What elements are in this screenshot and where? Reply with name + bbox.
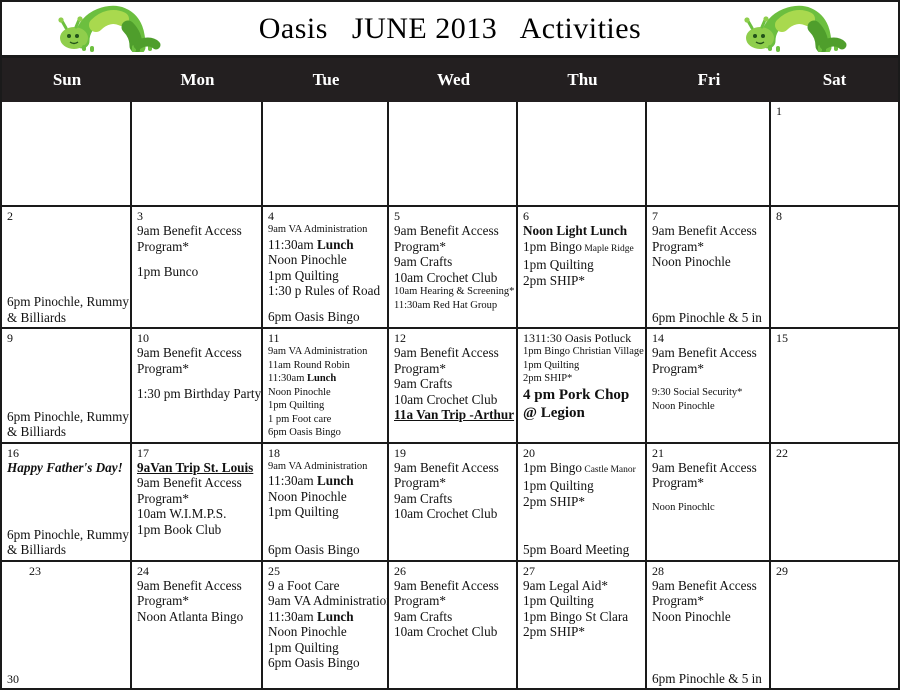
day-cell-15[interactable]: 15	[771, 329, 898, 442]
event-item[interactable]: 10am Crochet Club	[394, 624, 513, 640]
day-inline-note: 11:30 Oasis Potluck	[535, 331, 631, 345]
event-item[interactable]: Program*	[394, 361, 513, 377]
event-spacer	[137, 376, 258, 386]
caterpillar-icon-right	[738, 5, 850, 52]
event-item[interactable]: 1pm Quilting	[268, 504, 384, 520]
event-item[interactable]: 9:30 Social Security*	[652, 386, 766, 400]
event-spacer	[652, 491, 766, 501]
day-number: 20	[523, 446, 642, 460]
event-item[interactable]: 1pm Quilting	[268, 268, 384, 284]
event-spacer	[652, 376, 766, 386]
weekday-tue: Tue	[263, 70, 389, 90]
event-item[interactable]: 11:30am Lunch	[268, 237, 384, 253]
day-cell-empty[interactable]	[132, 102, 263, 205]
event-item[interactable]: 9aVan Trip St. Louis	[137, 460, 258, 476]
event-item[interactable]: Noon Pinochle	[268, 489, 384, 505]
day-cell-17[interactable]: 179aVan Trip St. Louis9am Benefit Access…	[132, 444, 263, 560]
day-number: 21	[652, 446, 766, 460]
event-item[interactable]: 9am VA Administration	[268, 345, 384, 359]
event-item[interactable]: 11:30am Lunch	[268, 609, 384, 625]
event-item[interactable]: 11a Van Trip -Arthur	[394, 407, 513, 423]
weekday-fri: Fri	[647, 70, 771, 90]
day-number: 18	[268, 446, 384, 460]
day-number: 14	[652, 331, 766, 345]
day-cell-28[interactable]: 289am Benefit AccessProgram*Noon Pinochl…	[647, 562, 771, 689]
day-cell-empty[interactable]	[647, 102, 771, 205]
event-item[interactable]: 5pm Board Meeting	[523, 542, 642, 558]
event-item[interactable]: 9am Benefit Access	[652, 345, 766, 361]
day-cell-11[interactable]: 119am VA Administration11am Round Robin1…	[263, 329, 389, 442]
event-item[interactable]: Program*	[394, 593, 513, 609]
event-item[interactable]: & Billiards	[7, 542, 127, 558]
event-item[interactable]: 9am Benefit Access	[652, 460, 766, 476]
calendar-title-bar: Oasis JUNE 2013 Activities	[2, 2, 898, 58]
day-cell-23[interactable]: 2330	[2, 562, 132, 689]
weekday-sat: Sat	[771, 70, 898, 90]
event-item[interactable]: 1pm Book Club	[137, 522, 258, 538]
calendar-week-row: 26pm Pinochle, Rummy& Billiards39am Bene…	[2, 207, 898, 329]
event-item[interactable]: 1pm Quilting	[268, 399, 384, 413]
calendar-week-row: 16Happy Father's Day!6pm Pinochle, Rummy…	[2, 444, 898, 562]
event-item[interactable]: 1pm Bingo Castle Manor	[523, 460, 642, 479]
event-item[interactable]: 9am Crafts	[394, 254, 513, 270]
event-item[interactable]: 2pm SHIP*	[523, 273, 642, 289]
event-item[interactable]: 9am Crafts	[394, 609, 513, 625]
day-number: 22	[776, 446, 895, 460]
event-item[interactable]: 9am VA Administration	[268, 223, 384, 237]
event-spacer	[268, 299, 384, 309]
day-number: 17	[137, 446, 258, 460]
event-item[interactable]: 9am VA Administration	[268, 593, 384, 609]
event-item[interactable]: 9am Legal Aid*	[523, 578, 642, 594]
day-cell-3[interactable]: 39am Benefit AccessProgram*1pm Bunco	[132, 207, 263, 327]
event-item[interactable]: Program*	[394, 475, 513, 491]
event-item[interactable]: Program*	[652, 239, 766, 255]
day-cell-2[interactable]: 26pm Pinochle, Rummy& Billiards	[2, 207, 132, 327]
event-item[interactable]: Happy Father's Day!	[7, 460, 127, 476]
day-cell-25[interactable]: 259 a Foot Care9am VA Administration11:3…	[263, 562, 389, 689]
day-cell-1[interactable]: 1	[771, 102, 898, 205]
event-location: Castle Manor	[582, 465, 636, 475]
day-cell-29[interactable]: 29	[771, 562, 898, 689]
event-item[interactable]: 1:30 p Rules of Road	[268, 283, 384, 299]
day-cell-5[interactable]: 59am Benefit AccessProgram*9am Crafts10a…	[389, 207, 518, 327]
day-cell-26[interactable]: 269am Benefit AccessProgram*9am Crafts10…	[389, 562, 518, 689]
day-cell-empty[interactable]	[389, 102, 518, 205]
event-item[interactable]: 6pm Pinochle, Rummy	[7, 527, 127, 543]
event-item[interactable]: 9am Benefit Access	[137, 578, 258, 594]
day-cell-16[interactable]: 16Happy Father's Day!6pm Pinochle, Rummy…	[2, 444, 132, 560]
event-item[interactable]: Program*	[137, 491, 258, 507]
day-number: 8	[776, 209, 895, 223]
event-item[interactable]: 10am Crochet Club	[394, 270, 513, 286]
day-cell-12[interactable]: 129am Benefit AccessProgram*9am Crafts10…	[389, 329, 518, 442]
event-item[interactable]: 1pm Quilting	[523, 257, 642, 273]
weekday-sun: Sun	[2, 70, 132, 90]
event-item[interactable]: 1pm Quilting	[523, 478, 642, 494]
day-number: 6	[523, 209, 642, 223]
event-item[interactable]: 9am Benefit Access	[137, 475, 258, 491]
calendar-grid: 126pm Pinochle, Rummy& Billiards39am Ben…	[2, 102, 898, 688]
day-number: 2	[7, 209, 127, 223]
day-number: 29	[776, 564, 895, 578]
day-number: 10	[137, 331, 258, 345]
day-cell-4[interactable]: 49am VA Administration11:30am LunchNoon …	[263, 207, 389, 327]
page-title: Oasis JUNE 2013 Activities	[259, 12, 642, 46]
day-number: 9	[7, 331, 127, 345]
event-item[interactable]: 6pm Oasis Bingo	[268, 655, 384, 671]
event-item[interactable]: Noon Pinochle	[652, 254, 766, 270]
event-item[interactable]: 9am Benefit Access	[652, 578, 766, 594]
day-cell-10[interactable]: 109am Benefit AccessProgram*1:30 pm Birt…	[132, 329, 263, 442]
calendar-week-row: 2330249am Benefit AccessProgram*Noon Atl…	[2, 562, 898, 689]
event-item[interactable]: 1 pm Foot care	[268, 413, 384, 427]
event-item[interactable]: 6pm Pinochle, Rummy	[7, 409, 127, 425]
calendar-week-row: 96pm Pinochle, Rummy& Billiards109am Ben…	[2, 329, 898, 444]
event-item[interactable]: 10am W.I.M.P.S.	[137, 506, 258, 522]
event-item[interactable]: 9am Benefit Access	[137, 345, 258, 361]
event-item[interactable]: 2pm SHIP*	[523, 624, 642, 640]
event-item[interactable]: Noon Pinochle	[652, 609, 766, 625]
day-number: 28	[652, 564, 766, 578]
day-number: 16	[7, 446, 127, 460]
event-item[interactable]: 1pm Bingo St Clara	[523, 609, 642, 625]
day-cell-14[interactable]: 149am Benefit AccessProgram*9:30 Social …	[647, 329, 771, 442]
day-cell-21[interactable]: 219am Benefit AccessProgram*Noon Pinochl…	[647, 444, 771, 560]
event-item[interactable]: Program*	[652, 475, 766, 491]
day-number: 15	[776, 331, 895, 345]
day-number: 11	[268, 331, 384, 345]
event-item[interactable]: Noon Pinochle	[268, 624, 384, 640]
event-item[interactable]: 9am Benefit Access	[394, 460, 513, 476]
event-item[interactable]: 2pm SHIP*	[523, 372, 642, 386]
event-item[interactable]: Noon Light Lunch	[523, 223, 642, 239]
event-item[interactable]: Program*	[137, 593, 258, 609]
event-item[interactable]: 11:30am Lunch	[268, 473, 384, 489]
event-item[interactable]: 4 pm Pork Chop @ Legion	[523, 386, 642, 422]
event-item[interactable]: 10am Crochet Club	[394, 392, 513, 408]
event-item[interactable]: 9am Benefit Access	[394, 578, 513, 594]
event-item[interactable]: 1:30 pm Birthday Party	[137, 386, 258, 402]
weekday-wed: Wed	[389, 70, 518, 90]
day-cell-empty[interactable]	[2, 102, 132, 205]
day-number: 3	[137, 209, 258, 223]
day-number-secondary: 30	[7, 672, 127, 686]
event-item[interactable]: 9 a Foot Care	[268, 578, 384, 594]
day-cell-7[interactable]: 79am Benefit AccessProgram*Noon Pinochle…	[647, 207, 771, 327]
event-item[interactable]: Noon Pinochle	[652, 400, 766, 414]
event-item[interactable]: 9am Benefit Access	[652, 223, 766, 239]
weekday-mon: Mon	[132, 70, 263, 90]
day-cell-empty[interactable]	[263, 102, 389, 205]
day-number: 23	[7, 564, 127, 578]
event-spacer	[7, 223, 127, 233]
day-cell-6[interactable]: 6Noon Light Lunch1pm Bingo Maple Ridge1p…	[518, 207, 647, 327]
event-item[interactable]: 2pm SHIP*	[523, 494, 642, 510]
event-item[interactable]: Program*	[137, 239, 258, 255]
day-cell-empty[interactable]	[518, 102, 647, 205]
event-item[interactable]: Noon Pinochle	[268, 386, 384, 400]
event-item[interactable]: 11:30am Lunch	[268, 372, 384, 386]
day-number: 25	[268, 564, 384, 578]
event-item[interactable]: 11:30am Red Hat Group	[394, 299, 513, 313]
event-item[interactable]: 6pm Oasis Bingo	[268, 309, 384, 325]
event-item[interactable]: 9am Benefit Access	[394, 345, 513, 361]
event-item[interactable]: 9am Crafts	[394, 376, 513, 392]
day-cell-20[interactable]: 201pm Bingo Castle Manor1pm Quilting2pm …	[518, 444, 647, 560]
day-number: 5	[394, 209, 513, 223]
event-location: Maple Ridge	[582, 244, 634, 254]
day-cell-9[interactable]: 96pm Pinochle, Rummy& Billiards	[2, 329, 132, 442]
day-cell-13[interactable]: 1311:30 Oasis Potluck1pm Bingo Christian…	[518, 329, 647, 442]
event-item[interactable]: 6pm Oasis Bingo	[268, 426, 384, 440]
event-item[interactable]: & Billiards	[7, 310, 127, 326]
day-cell-27[interactable]: 279am Legal Aid*1pm Quilting1pm Bingo St…	[518, 562, 647, 689]
day-number: 1	[776, 104, 895, 118]
event-item[interactable]: & Billiards	[7, 424, 127, 440]
event-item[interactable]: 6pm Pinochle & 5 in	[652, 310, 766, 326]
day-cell-22[interactable]: 22	[771, 444, 898, 560]
day-cell-24[interactable]: 249am Benefit AccessProgram*Noon Atlanta…	[132, 562, 263, 689]
day-cell-18[interactable]: 189am VA Administration11:30am LunchNoon…	[263, 444, 389, 560]
day-number: 19	[394, 446, 513, 460]
day-number: 26	[394, 564, 513, 578]
day-cell-8[interactable]: 8	[771, 207, 898, 327]
event-item[interactable]: 1pm Quilting	[268, 640, 384, 656]
event-item[interactable]: 11am Round Robin	[268, 359, 384, 373]
calendar-week-row: 1	[2, 102, 898, 207]
event-item[interactable]: Program*	[652, 593, 766, 609]
event-item[interactable]: 6pm Pinochle & 5 in	[652, 671, 766, 687]
event-item[interactable]: Program*	[652, 361, 766, 377]
event-item[interactable]: Program*	[137, 361, 258, 377]
day-number: 4	[268, 209, 384, 223]
calendar-page: Oasis JUNE 2013 Activities	[0, 0, 900, 690]
event-item[interactable]: 1pm Quilting	[523, 359, 642, 373]
weekday-thu: Thu	[518, 70, 647, 90]
weekday-header-row: Sun Mon Tue Wed Thu Fri Sat	[2, 58, 898, 102]
event-item[interactable]: 10am Hearing & Screening*	[394, 285, 513, 299]
event-item[interactable]: 1pm Bingo Maple Ridge	[523, 239, 642, 258]
event-item[interactable]: 9am Crafts	[394, 491, 513, 507]
day-number: 12	[394, 331, 513, 345]
day-cell-19[interactable]: 19 9am Benefit AccessProgram*9am Crafts1…	[389, 444, 518, 560]
day-number: 27	[523, 564, 642, 578]
event-item[interactable]: 1pm Quilting	[523, 593, 642, 609]
day-number: 24	[137, 564, 258, 578]
event-item[interactable]: 6pm Pinochle, Rummy	[7, 294, 127, 310]
event-item[interactable]: 6pm Oasis Bingo	[268, 542, 384, 558]
event-item[interactable]: Program*	[394, 239, 513, 255]
event-item[interactable]: 9am Benefit Access	[137, 223, 258, 239]
event-item[interactable]: 1pm Bingo Christian Village	[523, 345, 642, 359]
event-item[interactable]: 9am VA Administration	[268, 460, 384, 474]
event-item[interactable]: 9am Benefit Access	[394, 223, 513, 239]
event-item[interactable]: Noon Atlanta Bingo	[137, 609, 258, 625]
event-item[interactable]: 1pm Bunco	[137, 264, 258, 280]
event-item[interactable]: Noon Pinochlc	[652, 501, 766, 515]
event-spacer	[137, 254, 258, 264]
caterpillar-icon-left	[52, 5, 164, 52]
day-number: 1311:30 Oasis Potluck	[523, 331, 642, 345]
day-number: 7	[652, 209, 766, 223]
event-item[interactable]: Noon Pinochle	[268, 252, 384, 268]
event-item[interactable]: 10am Crochet Club	[394, 506, 513, 522]
